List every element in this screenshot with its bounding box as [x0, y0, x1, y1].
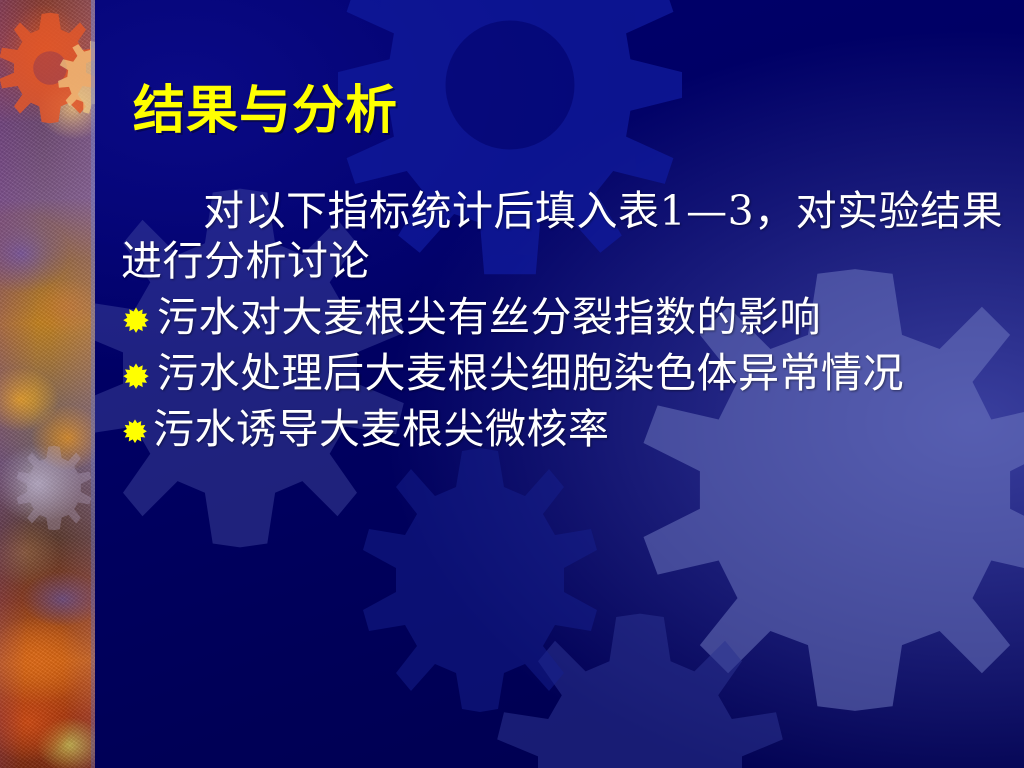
- bullet-item-1: 污水对大麦根尖有丝分裂指数的影响: [121, 292, 1010, 342]
- bullet-item-2-label: 污水处理后大麦根尖细胞染色体异常情况: [157, 348, 1010, 398]
- bullet-item-2: 污水处理后大麦根尖细胞染色体异常情况: [121, 348, 1010, 398]
- bullet-item-1-label: 污水对大麦根尖有丝分裂指数的影响: [157, 292, 1010, 342]
- intro-paragraph: 对以下指标统计后填入表1—3，对实验结果进行分析讨论: [121, 186, 1010, 286]
- slide-canvas: 结果与分析 对以下指标统计后填入表1—3，对实验结果进行分析讨论 污水对大麦根尖…: [0, 0, 1024, 768]
- slide-body: 对以下指标统计后填入表1—3，对实验结果进行分析讨论 污水对大麦根尖有丝分裂指数…: [121, 186, 1010, 456]
- strip-gear-icon-mid: [6, 440, 95, 541]
- bullet-item-3: 污水诱导大麦根尖微核率: [121, 404, 1010, 454]
- star-burst-bullet-icon: [121, 404, 155, 446]
- decorative-art-strip: [0, 0, 95, 768]
- star-burst-bullet-icon: [121, 348, 155, 392]
- slide-title: 结果与分析: [133, 84, 398, 139]
- star-burst-bullet-icon: [121, 292, 155, 336]
- bullet-item-3-label: 污水诱导大麦根尖微核率: [153, 404, 1010, 454]
- strip-gear-icon-small: [48, 34, 95, 123]
- slide-content: 结果与分析 对以下指标统计后填入表1—3，对实验结果进行分析讨论 污水对大麦根尖…: [95, 0, 1024, 768]
